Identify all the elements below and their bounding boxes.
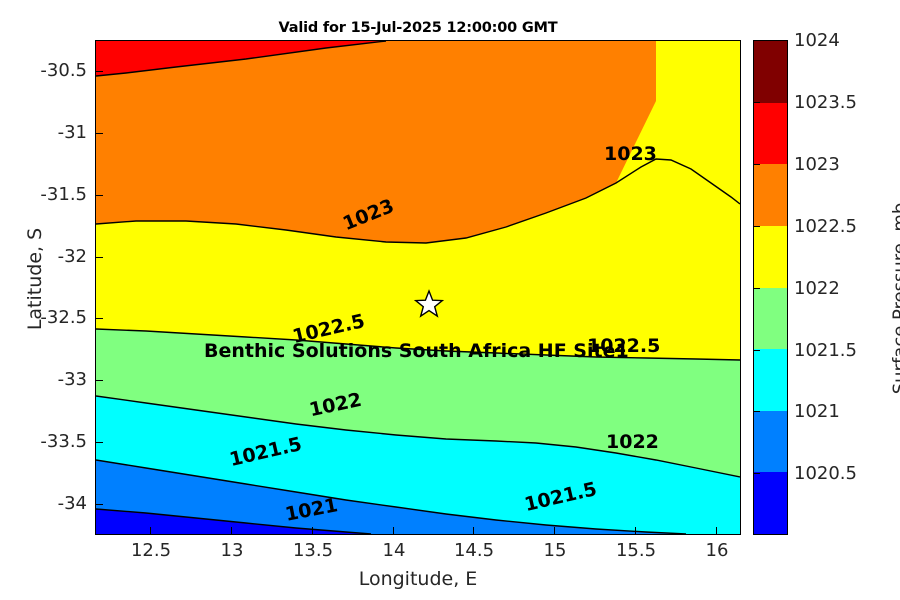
xtick-label: 15	[514, 540, 596, 561]
ytick-mark	[95, 257, 103, 258]
xtick-label: 16	[676, 540, 758, 561]
cbar-label: 1021	[794, 401, 840, 422]
cbar-label: 1020.5	[794, 463, 857, 484]
ytick-mark	[95, 504, 103, 505]
cbar-band-1022-1022p5	[754, 226, 787, 288]
y-axis-label: Latitude, S	[24, 169, 46, 389]
xtick-label: 15.5	[595, 540, 677, 561]
xtick-label: 14	[353, 540, 435, 561]
xtick-mark	[231, 527, 232, 535]
xtick-mark	[635, 527, 636, 535]
ytick-mark	[95, 442, 103, 443]
cbar-band-1023-1023p5	[754, 103, 787, 165]
ytick-label: -30.5	[0, 60, 87, 81]
cbar-label: 1022	[794, 278, 840, 299]
colorbar-title: Surface Pressure, mb	[890, 174, 900, 424]
ytick-mark	[95, 71, 103, 72]
xtick-label: 12.5	[110, 540, 192, 561]
cbar-band-below-1020p5	[754, 472, 787, 534]
page-title: Valid for 15-Jul-2025 12:00:00 GMT	[95, 20, 741, 36]
cbar-band-1021p5-1022	[754, 288, 787, 350]
cbar-label: 1022.5	[794, 216, 857, 237]
cbar-label: 1023.5	[794, 92, 857, 113]
xtick-mark	[150, 527, 151, 535]
xtick-label: 13	[191, 540, 273, 561]
cbar-band-1020p5-1021	[754, 411, 787, 473]
xtick-mark	[473, 527, 474, 535]
cbar-tick	[753, 288, 760, 289]
xtick-label: 14.5	[433, 540, 515, 561]
ytick-mark	[95, 380, 103, 381]
contour-svg	[96, 41, 740, 534]
xtick-mark	[312, 527, 313, 535]
cbar-tick	[753, 473, 760, 474]
xtick-mark	[554, 527, 555, 535]
ytick-mark	[95, 133, 103, 134]
ytick-label: -33.5	[0, 431, 87, 452]
contour-plot-area[interactable]: 1023 1023 1022.5 1022.5 1022 1022 1021.5…	[95, 40, 741, 535]
cbar-label: 1021.5	[794, 340, 857, 361]
xtick-label: 13.5	[272, 540, 354, 561]
ytick-label: -31	[0, 122, 87, 143]
cbar-tick	[753, 350, 760, 351]
figure-container: Valid for 15-Jul-2025 12:00:00 GMT	[0, 0, 900, 600]
ytick-label: -34	[0, 493, 87, 514]
cbar-band-1022p5-1023	[754, 164, 787, 226]
ytick-mark	[95, 195, 103, 196]
cbar-label: 1024	[794, 30, 840, 51]
cbar-band-1021-1021p5	[754, 349, 787, 411]
ytick-mark	[95, 318, 103, 319]
xtick-mark	[393, 527, 394, 535]
cbar-tick	[753, 164, 760, 165]
xtick-mark	[716, 527, 717, 535]
cbar-tick	[753, 226, 760, 227]
x-axis-label: Longitude, E	[95, 568, 741, 590]
cbar-tick	[753, 102, 760, 103]
cbar-label: 1023	[794, 154, 840, 175]
cbar-band-1023p5-1024	[754, 41, 787, 103]
cbar-tick	[753, 411, 760, 412]
